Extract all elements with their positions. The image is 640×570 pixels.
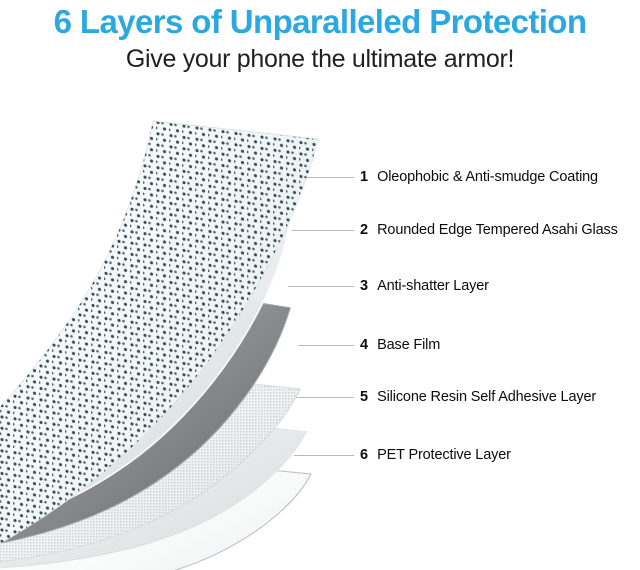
infographic-page: 6 Layers of Unparalleled Protection Give… bbox=[0, 0, 640, 570]
callout-number-3: 3 bbox=[360, 278, 368, 294]
leader-line-icon bbox=[298, 345, 354, 346]
header: 6 Layers of Unparalleled Protection Give… bbox=[0, 0, 640, 74]
leader-line-icon bbox=[292, 230, 354, 231]
callout-number-1: 1 bbox=[360, 169, 368, 185]
callout-item-5[interactable]: 5 Silicone Resin Self Adhesive Layer bbox=[296, 387, 596, 407]
callout-number-6: 6 bbox=[360, 447, 368, 463]
callout-number-5: 5 bbox=[360, 389, 368, 405]
leader-line-icon bbox=[294, 455, 354, 456]
page-title: 6 Layers of Unparalleled Protection bbox=[0, 3, 640, 41]
leader-line-icon bbox=[296, 397, 354, 398]
callout-label-3: Anti-shatter Layer bbox=[377, 278, 489, 294]
callout-item-3[interactable]: 3 Anti-shatter Layer bbox=[288, 276, 489, 296]
callout-item-1[interactable]: 1 Oleophobic & Anti-smudge Coating bbox=[306, 167, 598, 187]
callout-number-4: 4 bbox=[360, 337, 368, 353]
callout-label-4: Base Film bbox=[377, 337, 440, 353]
callout-item-2[interactable]: 2 Rounded Edge Tempered Asahi Glass bbox=[292, 220, 618, 240]
leader-line-icon bbox=[306, 177, 354, 178]
callout-label-5: Silicone Resin Self Adhesive Layer bbox=[377, 389, 596, 405]
callout-label-2: Rounded Edge Tempered Asahi Glass bbox=[377, 222, 618, 238]
callout-number-2: 2 bbox=[360, 222, 368, 238]
callout-label-1: Oleophobic & Anti-smudge Coating bbox=[377, 169, 598, 185]
callout-item-4[interactable]: 4 Base Film bbox=[298, 335, 440, 355]
leader-line-icon bbox=[288, 286, 354, 287]
page-subtitle: Give your phone the ultimate armor! bbox=[0, 44, 640, 74]
callout-label-6: PET Protective Layer bbox=[377, 447, 511, 463]
callout-item-6[interactable]: 6 PET Protective Layer bbox=[294, 445, 511, 465]
